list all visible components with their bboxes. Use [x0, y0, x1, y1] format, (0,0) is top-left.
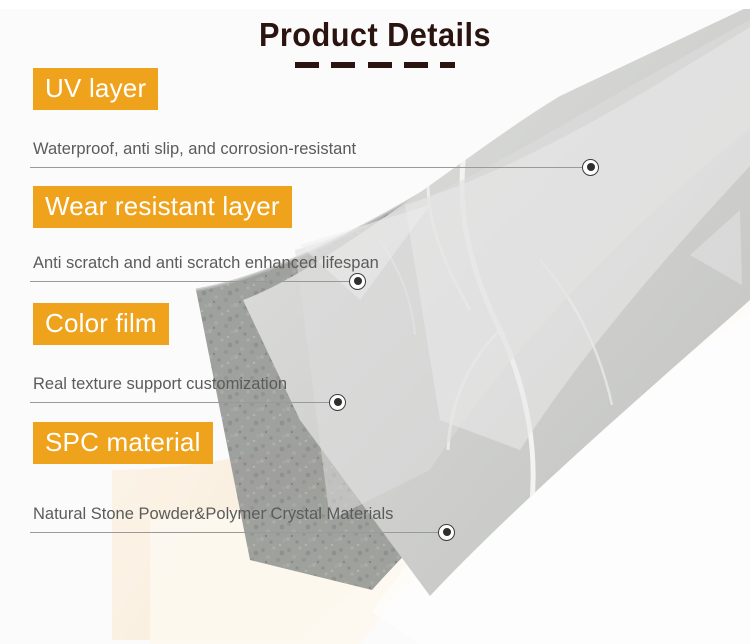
layer-description-uv: Waterproof, anti slip, and corrosion-res… — [30, 140, 595, 160]
layer-desc-block-wear: Anti scratch and anti scratch enhanced l… — [30, 254, 379, 282]
title-dashed-underline — [295, 62, 455, 68]
dash-5 — [440, 62, 455, 68]
layer-badge-spc: SPC material — [33, 422, 213, 464]
layer-badge-color-film: Color film — [33, 303, 169, 345]
layer-rule-uv — [30, 167, 595, 168]
layer-description-wear: Anti scratch and anti scratch enhanced l… — [30, 254, 379, 274]
layer-marker-color-film — [329, 394, 346, 411]
layer-block-color-film: Color film — [33, 303, 169, 345]
layer-description-spc: Natural Stone Powder&Polymer Crystal Mat… — [30, 505, 451, 525]
layer-badge-uv: UV layer — [33, 68, 158, 110]
layer-description-color-film: Real texture support customization — [30, 375, 342, 395]
layer-desc-block-uv: Waterproof, anti slip, and corrosion-res… — [30, 140, 595, 168]
layer-block-spc: SPC material — [33, 422, 213, 464]
dash-1 — [295, 62, 319, 68]
page-title: Product Details — [26, 18, 724, 53]
dash-3 — [368, 62, 392, 68]
layer-badge-wear: Wear resistant layer — [33, 186, 292, 228]
layer-block-wear: Wear resistant layer — [33, 186, 292, 228]
product-details-banner: Product Details UV layer Waterproof, ant… — [0, 0, 750, 644]
layer-marker-wear — [349, 273, 366, 290]
page-title-block: Product Details — [0, 18, 750, 68]
layer-marker-spc — [438, 524, 455, 541]
layer-marker-uv — [582, 159, 599, 176]
top-edge-strip — [0, 0, 750, 9]
layer-rule-color-film — [30, 402, 342, 403]
layer-desc-block-spc: Natural Stone Powder&Polymer Crystal Mat… — [30, 505, 451, 533]
layer-rule-spc — [30, 532, 451, 533]
layer-desc-block-color-film: Real texture support customization — [30, 375, 342, 403]
layer-block-uv: UV layer — [33, 68, 158, 110]
dash-4 — [404, 62, 428, 68]
dash-2 — [331, 62, 355, 68]
layer-rule-wear — [30, 281, 362, 282]
